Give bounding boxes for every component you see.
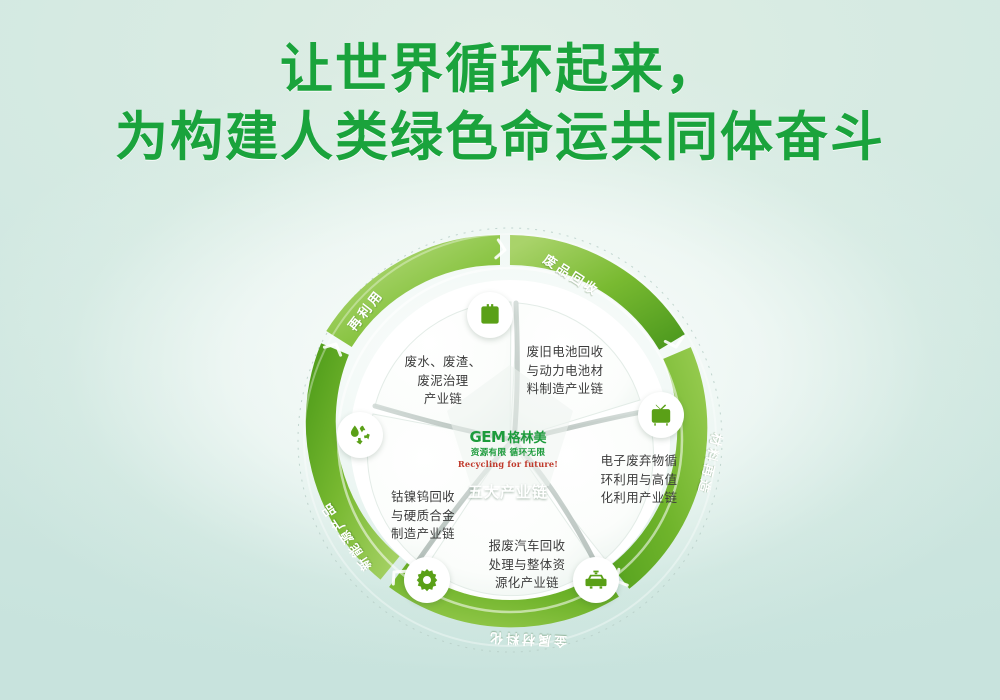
car-icon [583,567,609,593]
water-recycle-icon-bubble [337,412,383,458]
television-icon-bubble [638,392,684,438]
car-icon-bubble [573,557,619,603]
petal-label-vehicle: 报废汽车回收 处理与整体资 源化产业链 [466,537,588,593]
gear-icon [414,567,440,593]
battery-icon [477,302,503,328]
petal-label-battery: 废旧电池回收 与动力电池材 料制造产业链 [504,343,626,399]
petal-label-metal: 钴镍钨回收 与硬质合金 制造产业链 [362,488,484,544]
gear-icon-bubble [404,557,450,603]
title-line-1: 让世界循环起来， [0,36,1000,104]
poster-canvas: 让世界循环起来， 为构建人类绿色命运共同体奋斗 [0,0,1000,700]
petal-label-water: 废水、废渣、 废泥治理 产业链 [382,353,504,409]
battery-icon-bubble [467,292,513,338]
petal-label-ewaste: 电子废弃物循 环利用与高值 化利用产业链 [578,452,700,508]
title-line-2: 为构建人类绿色命运共同体奋斗 [0,104,1000,172]
water-recycle-icon [347,422,373,448]
page-title: 让世界循环起来， 为构建人类绿色命运共同体奋斗 [0,36,1000,172]
television-icon [648,402,674,428]
